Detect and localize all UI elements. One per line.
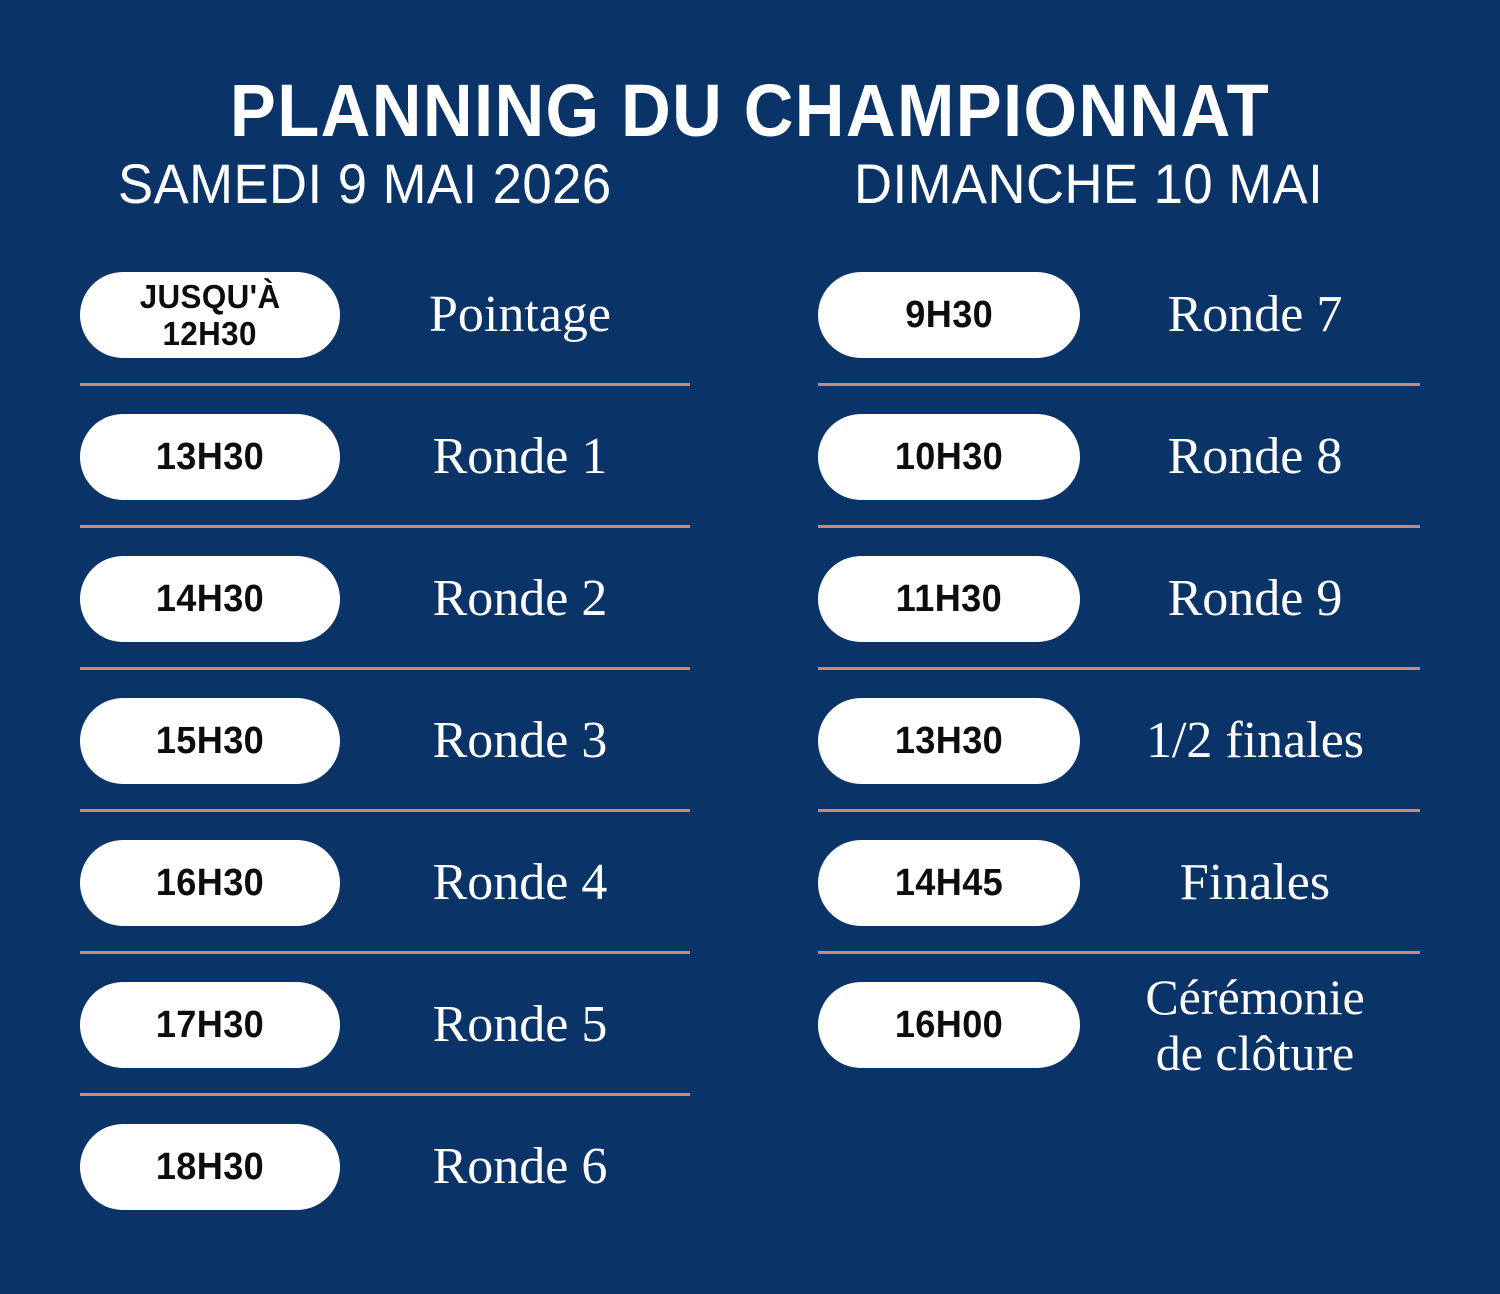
time-text: 14H45 xyxy=(895,862,1003,904)
schedule-row: 11H30Ronde 9 xyxy=(818,528,1422,670)
event-label: Ronde 2 xyxy=(340,570,692,628)
page-title: PLANNING DU CHAMPIONNAT xyxy=(53,68,1448,154)
event-label-line: Ronde 9 xyxy=(1094,570,1416,628)
schedule-list-sunday: 9H30Ronde 710H30Ronde 811H30Ronde 913H30… xyxy=(818,244,1422,1096)
time-pill: 18H30 xyxy=(80,1124,340,1210)
time-pill: 9H30 xyxy=(818,272,1080,358)
event-label-line: Ronde 2 xyxy=(354,570,686,628)
time-text: 9H30 xyxy=(905,294,993,336)
time-text: 12H30 xyxy=(163,315,257,352)
time-pill: 16H30 xyxy=(80,840,340,926)
event-label: 1/2 finales xyxy=(1080,712,1422,770)
time-text: 17H30 xyxy=(156,1004,264,1046)
event-label: Finales xyxy=(1080,854,1422,912)
time-text: 14H30 xyxy=(156,578,264,620)
event-label-line: Ronde 3 xyxy=(354,712,686,770)
event-label-line: de clôture xyxy=(1094,1025,1416,1081)
time-pill: 11H30 xyxy=(818,556,1080,642)
time-pill: 17H30 xyxy=(80,982,340,1068)
time-pill: 15H30 xyxy=(80,698,340,784)
schedule-row: 18H30Ronde 6 xyxy=(80,1096,692,1238)
event-label: Ronde 7 xyxy=(1080,286,1422,344)
event-label: Ronde 8 xyxy=(1080,428,1422,486)
time-pill: 13H30 xyxy=(818,698,1080,784)
time-pill: 13H30 xyxy=(80,414,340,500)
event-label-line: 1/2 finales xyxy=(1094,712,1416,770)
time-text: 15H30 xyxy=(156,720,264,762)
event-label: Ronde 9 xyxy=(1080,570,1422,628)
day-column-sunday: DIMANCHE 10 MAI 9H30Ronde 710H30Ronde 81… xyxy=(818,148,1422,1096)
time-pill: 14H30 xyxy=(80,556,340,642)
event-label: Ronde 3 xyxy=(340,712,692,770)
event-label-line: Ronde 1 xyxy=(354,428,686,486)
time-text: 13H30 xyxy=(156,436,264,478)
day-heading-saturday: SAMEDI 9 MAI 2026 xyxy=(118,148,658,220)
event-label-line: Ronde 4 xyxy=(354,854,686,912)
schedule-row: 14H45Finales xyxy=(818,812,1422,954)
schedule-row: 16H30Ronde 4 xyxy=(80,812,692,954)
schedule-row: 15H30Ronde 3 xyxy=(80,670,692,812)
time-pill: JUSQU'À12H30 xyxy=(80,272,340,358)
event-label: Ronde 4 xyxy=(340,854,692,912)
event-label-line: Cérémonie xyxy=(1094,969,1416,1025)
time-pill: 14H45 xyxy=(818,840,1080,926)
time-text: 18H30 xyxy=(156,1146,264,1188)
time-text: 16H00 xyxy=(895,1004,1003,1046)
event-label: Ronde 1 xyxy=(340,428,692,486)
event-label-line: Ronde 6 xyxy=(354,1138,686,1196)
time-pill: 10H30 xyxy=(818,414,1080,500)
schedule-row: 16H00Cérémoniede clôture xyxy=(818,954,1422,1096)
schedule-row: 9H30Ronde 7 xyxy=(818,244,1422,386)
championship-schedule-poster: PLANNING DU CHAMPIONNAT SAMEDI 9 MAI 202… xyxy=(0,0,1500,1294)
event-label: Ronde 6 xyxy=(340,1138,692,1196)
schedule-row: 13H30Ronde 1 xyxy=(80,386,692,528)
schedule-row: 17H30Ronde 5 xyxy=(80,954,692,1096)
day-column-saturday: SAMEDI 9 MAI 2026 JUSQU'À12H30Pointage13… xyxy=(80,148,692,1238)
time-text: 13H30 xyxy=(895,720,1003,762)
time-text: 16H30 xyxy=(156,862,264,904)
event-label-line: Pointage xyxy=(354,286,686,344)
event-label: Ronde 5 xyxy=(340,996,692,1054)
schedule-list-saturday: JUSQU'À12H30Pointage13H30Ronde 114H30Ron… xyxy=(80,244,692,1238)
event-label-line: Ronde 7 xyxy=(1094,286,1416,344)
time-text: JUSQU'À xyxy=(140,278,281,315)
event-label: Cérémoniede clôture xyxy=(1080,969,1422,1081)
day-heading-sunday: DIMANCHE 10 MAI xyxy=(854,148,1388,220)
schedule-row: 14H30Ronde 2 xyxy=(80,528,692,670)
event-label-line: Ronde 8 xyxy=(1094,428,1416,486)
event-label: Pointage xyxy=(340,286,692,344)
schedule-row: JUSQU'À12H30Pointage xyxy=(80,244,692,386)
time-text: 10H30 xyxy=(895,436,1003,478)
schedule-row: 13H301/2 finales xyxy=(818,670,1422,812)
event-label-line: Finales xyxy=(1094,854,1416,912)
time-pill: 16H00 xyxy=(818,982,1080,1068)
schedule-row: 10H30Ronde 8 xyxy=(818,386,1422,528)
event-label-line: Ronde 5 xyxy=(354,996,686,1054)
time-text: 11H30 xyxy=(896,578,1002,620)
